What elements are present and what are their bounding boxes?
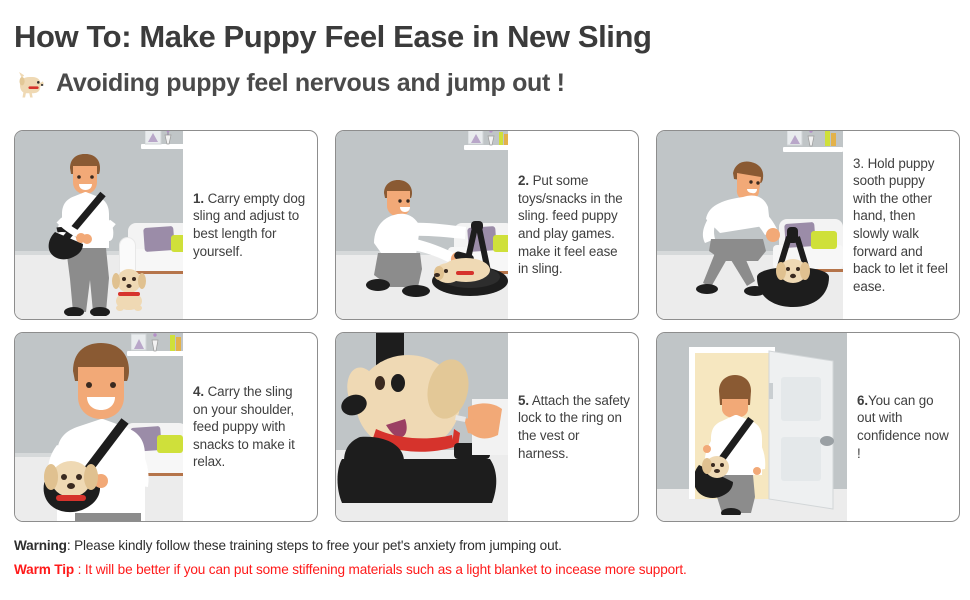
step-2-caption: 2. Put some toys/snacks in the sling. fe… bbox=[508, 131, 638, 319]
step-panel-1: 1. Carry empty dog sling and adjust to b… bbox=[14, 130, 318, 320]
page-title: How To: Make Puppy Feel Ease in New Slin… bbox=[14, 19, 652, 55]
step-6-number: 6. bbox=[857, 393, 868, 408]
step-4-number: 4. bbox=[193, 384, 204, 399]
step-5-illustration bbox=[336, 333, 508, 521]
step-panel-4: 4. Carry the sling on your shoulder, fee… bbox=[14, 332, 318, 522]
step-panel-3: 3. Hold puppy sooth puppy with the other… bbox=[656, 130, 960, 320]
steps-grid: 1. Carry empty dog sling and adjust to b… bbox=[14, 130, 956, 522]
step-2-illustration bbox=[336, 131, 508, 319]
footer-notes: Warning: Please kindly follow these trai… bbox=[14, 534, 964, 582]
step-panel-2: 2. Put some toys/snacks in the sling. fe… bbox=[335, 130, 639, 320]
step-2-text: Put some toys/snacks in the sling. feed … bbox=[518, 173, 623, 276]
step-6-text: You can go out with confidence now ! bbox=[857, 393, 949, 461]
page-subtitle: Avoiding puppy feel nervous and jump out… bbox=[56, 69, 565, 98]
step-4-text: Carry the sling on your shoulder, feed p… bbox=[193, 384, 295, 469]
warm-tip-separator: : bbox=[74, 562, 85, 577]
step-1-text: Carry empty dog sling and adjust to best… bbox=[193, 191, 305, 259]
warning-label: Warning bbox=[14, 538, 67, 553]
header: How To: Make Puppy Feel Ease in New Slin… bbox=[0, 0, 970, 118]
step-1-illustration bbox=[15, 131, 183, 319]
step-4-illustration bbox=[15, 333, 183, 521]
step-6-illustration bbox=[657, 333, 847, 521]
warning-separator: : bbox=[67, 538, 74, 553]
step-3-text: Hold puppy sooth puppy with the other ha… bbox=[853, 156, 948, 294]
warning-line: Warning: Please kindly follow these trai… bbox=[14, 534, 964, 558]
warm-tip-text: It will be better if you can put some st… bbox=[85, 562, 687, 577]
step-panel-6: 6.You can go out with confidence now ! bbox=[656, 332, 960, 522]
warm-tip-label: Warm Tip bbox=[14, 562, 74, 577]
step-3-caption: 3. Hold puppy sooth puppy with the other… bbox=[843, 131, 959, 319]
infographic-page: How To: Make Puppy Feel Ease in New Slin… bbox=[0, 0, 970, 600]
warm-tip-line: Warm Tip : It will be better if you can … bbox=[14, 558, 964, 582]
step-1-number: 1. bbox=[193, 191, 204, 206]
warning-text: Please kindly follow these training step… bbox=[74, 538, 562, 553]
step-3-number: 3. bbox=[853, 156, 864, 171]
step-3-illustration bbox=[657, 131, 843, 319]
dog-icon bbox=[14, 66, 48, 100]
step-1-caption: 1. Carry empty dog sling and adjust to b… bbox=[183, 131, 317, 319]
step-5-number: 5. bbox=[518, 393, 529, 408]
subtitle-row: Avoiding puppy feel nervous and jump out… bbox=[14, 66, 565, 100]
step-5-text: Attach the safety lock to the ring on th… bbox=[518, 393, 630, 461]
step-5-caption: 5. Attach the safety lock to the ring on… bbox=[508, 333, 638, 521]
step-panel-5: 5. Attach the safety lock to the ring on… bbox=[335, 332, 639, 522]
step-6-caption: 6.You can go out with confidence now ! bbox=[847, 333, 959, 521]
step-4-caption: 4. Carry the sling on your shoulder, fee… bbox=[183, 333, 317, 521]
step-2-number: 2. bbox=[518, 173, 529, 188]
